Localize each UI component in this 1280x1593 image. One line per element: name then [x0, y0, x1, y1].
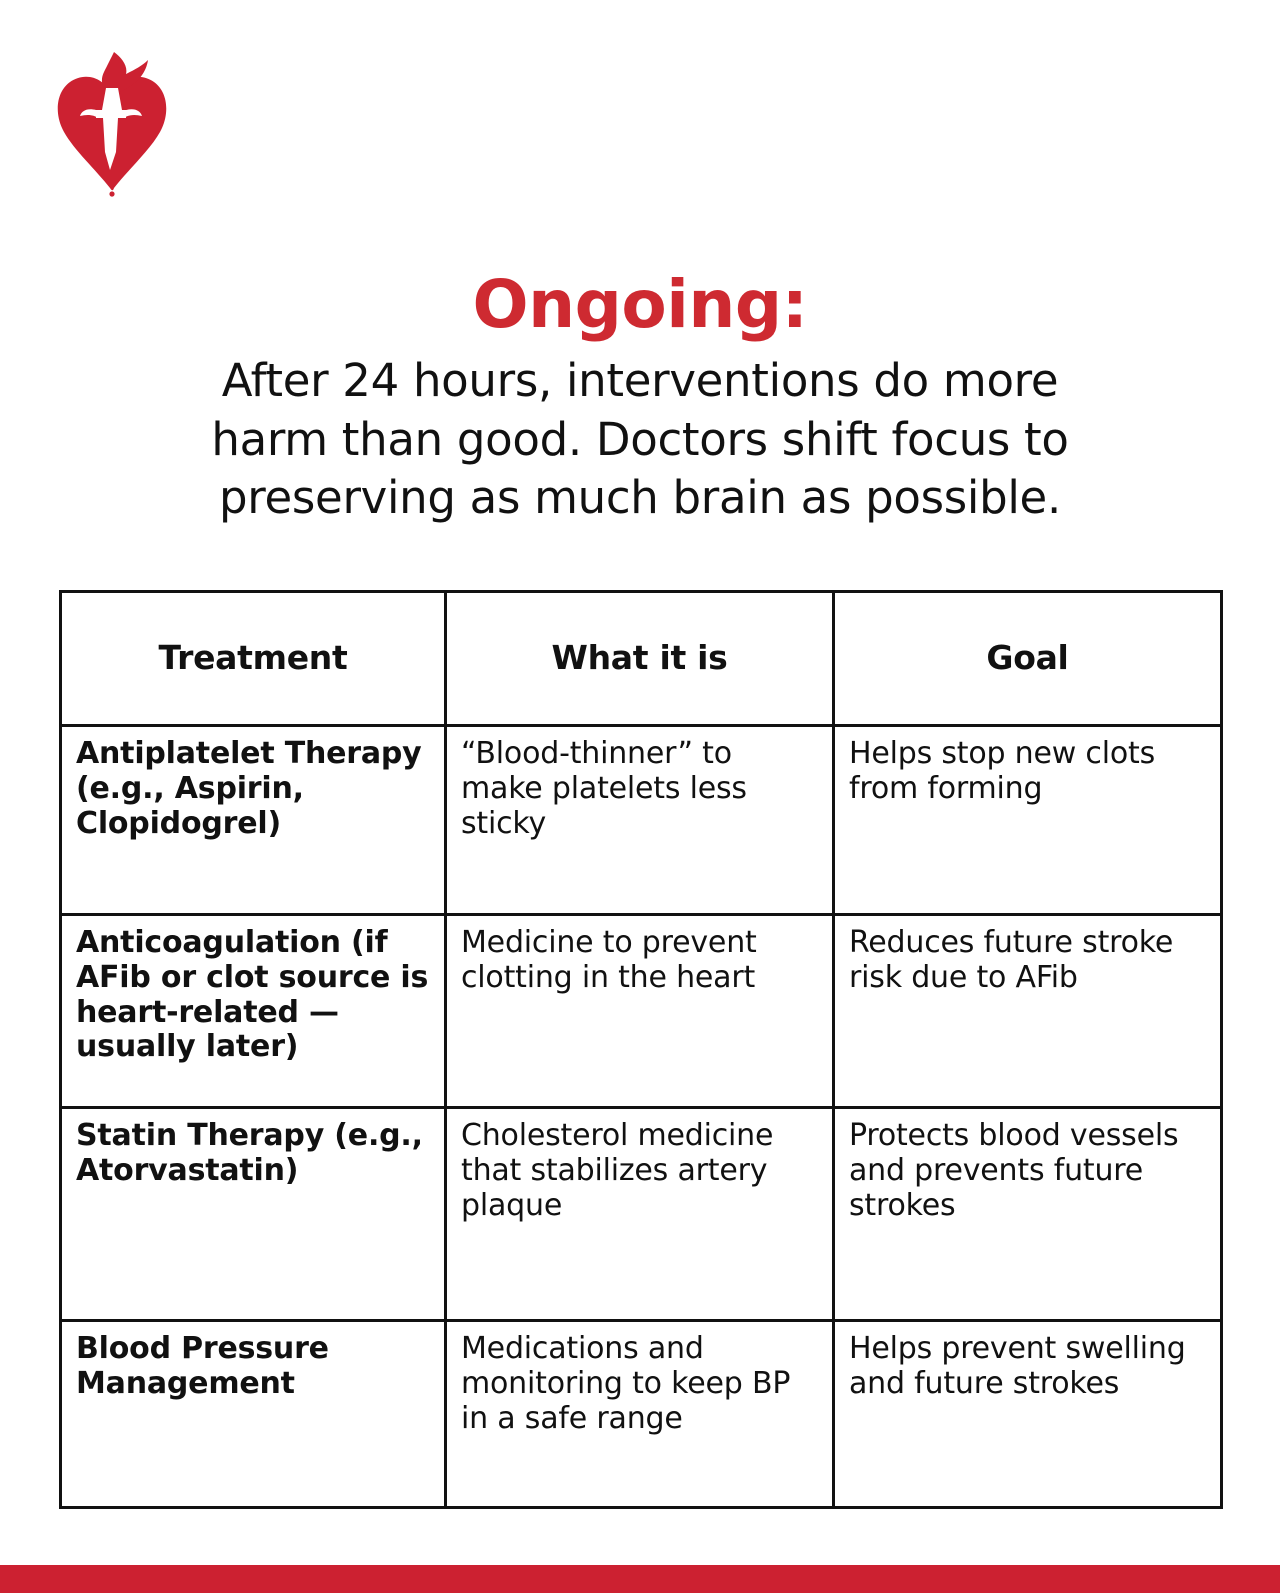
bottom-accent-bar [0, 1565, 1280, 1593]
cell-goal: Reduces future stroke risk due to AFib [834, 915, 1222, 1108]
table-header-row: Treatment What it is Goal [61, 592, 1222, 726]
page-subtitle: After 24 hours, interventions do more ha… [0, 352, 1280, 528]
column-header-what-it-is: What it is [446, 592, 834, 726]
cell-what-it-is: Medicine to prevent clotting in the hear… [446, 915, 834, 1108]
table-row: Antiplatelet Therapy (e.g., Aspirin, Clo… [61, 726, 1222, 915]
table-row: Anticoagulation (if AFib or clot source … [61, 915, 1222, 1108]
subtitle-line-2: harm than good. Doctors shift focus to [110, 411, 1170, 470]
cell-what-it-is: Medications and monitoring to keep BP in… [446, 1321, 834, 1508]
table-row: Blood Pressure Management Medications an… [61, 1321, 1222, 1508]
cell-treatment: Antiplatelet Therapy (e.g., Aspirin, Clo… [61, 726, 446, 915]
subtitle-line-1: After 24 hours, interventions do more [110, 352, 1170, 411]
column-header-goal: Goal [834, 592, 1222, 726]
cell-goal: Helps prevent swelling and future stroke… [834, 1321, 1222, 1508]
cell-treatment: Blood Pressure Management [61, 1321, 446, 1508]
heading-block: Ongoing: After 24 hours, interventions d… [0, 272, 1280, 528]
column-header-treatment: Treatment [61, 592, 446, 726]
cell-goal: Protects blood vessels and prevents futu… [834, 1108, 1222, 1321]
cell-treatment: Anticoagulation (if AFib or clot source … [61, 915, 446, 1108]
aha-logo [52, 48, 172, 198]
cell-treatment: Statin Therapy (e.g., Atorvastatin) [61, 1108, 446, 1321]
registered-trademark-mark [109, 191, 114, 196]
cell-what-it-is: “Blood-thinner” to make platelets less s… [446, 726, 834, 915]
cell-goal: Helps stop new clots from forming [834, 726, 1222, 915]
cell-what-it-is: Cholesterol medicine that stabilizes art… [446, 1108, 834, 1321]
table-row: Statin Therapy (e.g., Atorvastatin) Chol… [61, 1108, 1222, 1321]
subtitle-line-3: preserving as much brain as possible. [110, 469, 1170, 528]
treatment-table: Treatment What it is Goal Antiplatelet T… [59, 590, 1223, 1509]
page-title: Ongoing: [0, 272, 1280, 338]
